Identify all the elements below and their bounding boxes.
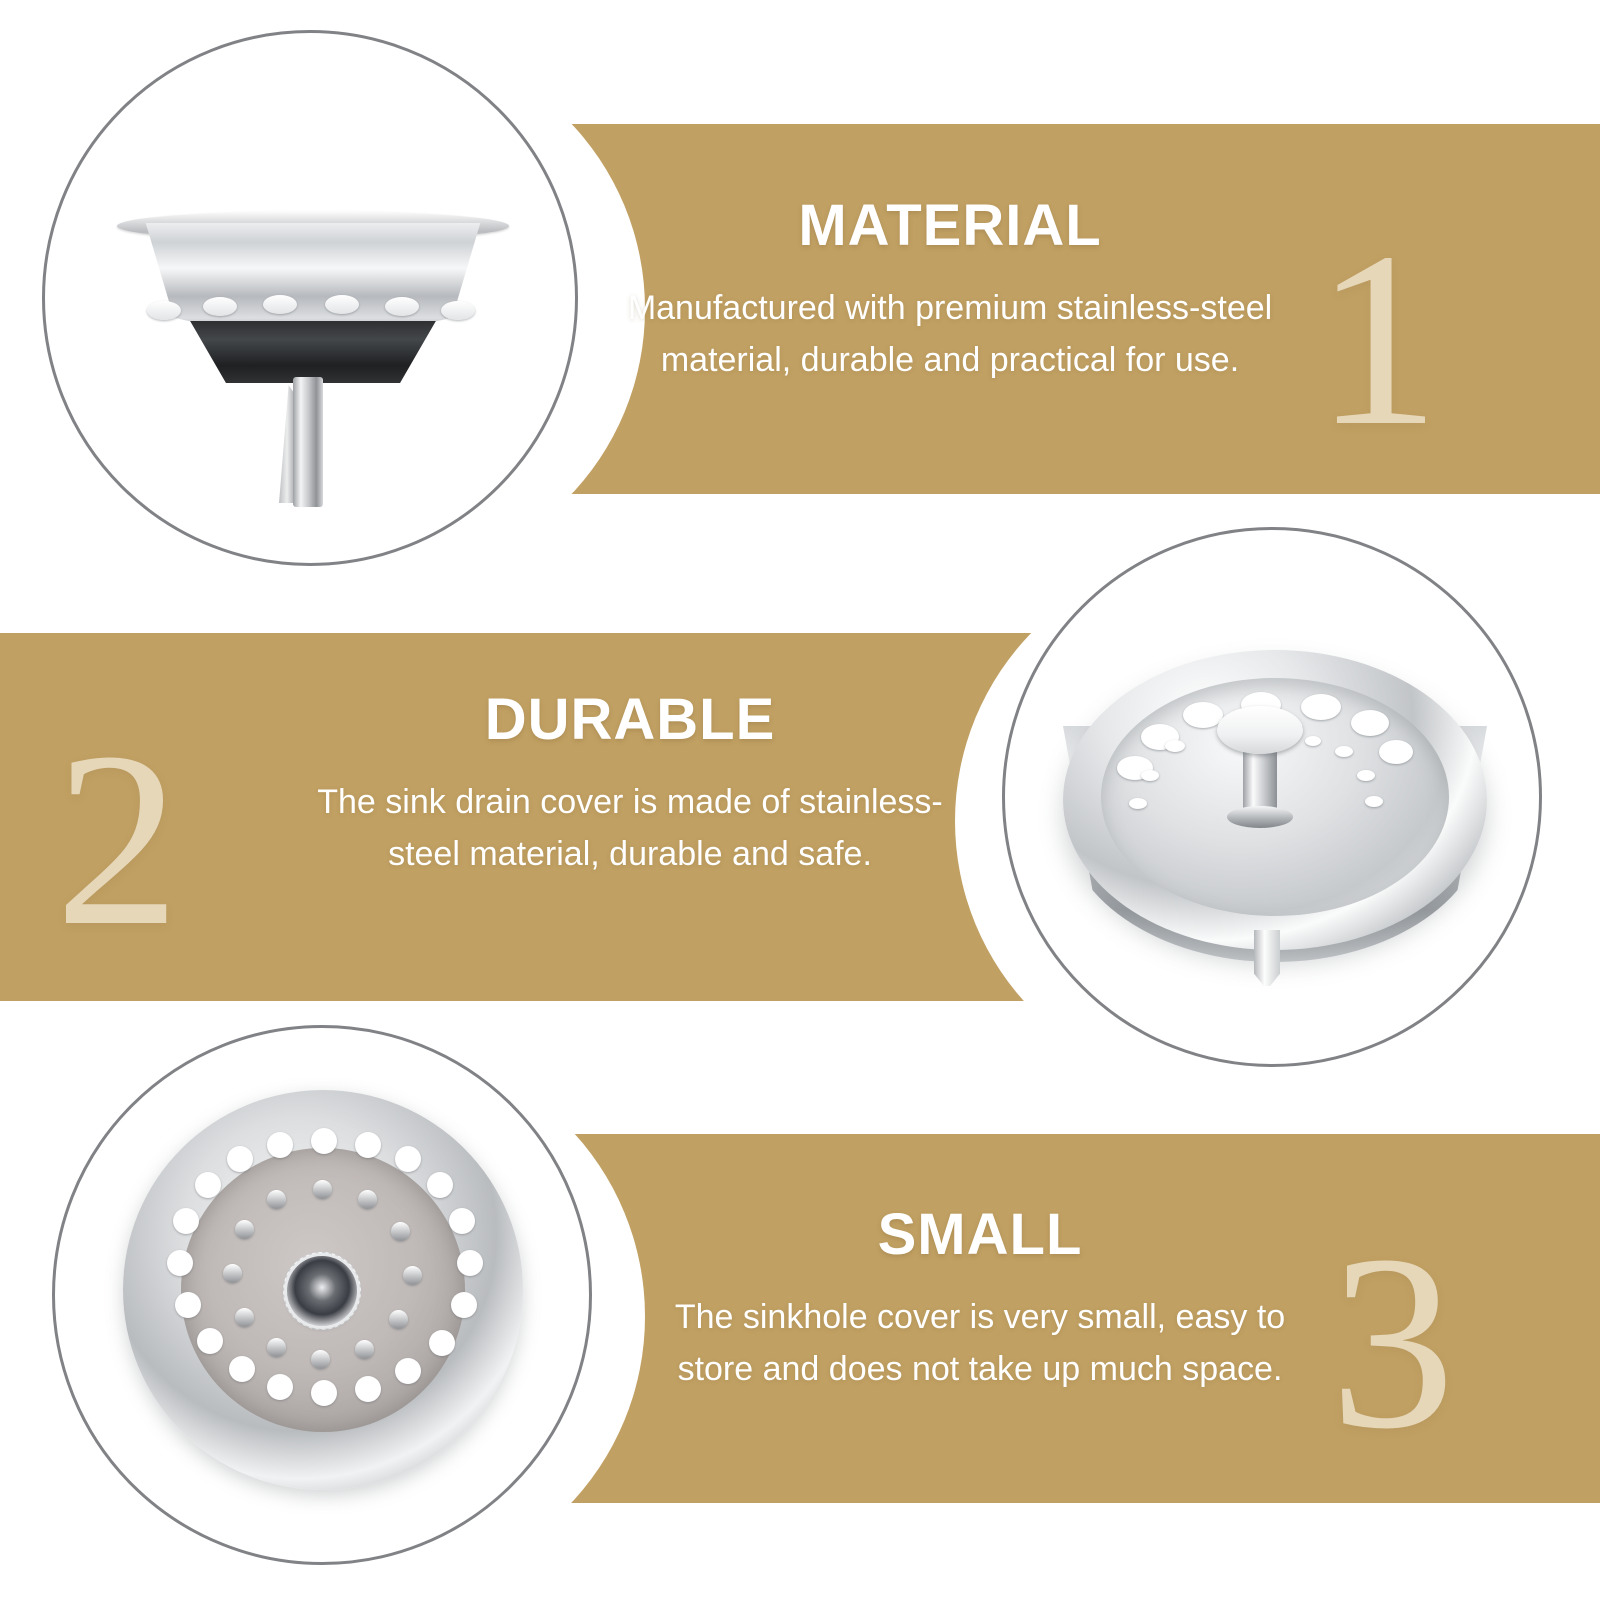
feature-number-2: 2 [55, 715, 180, 965]
product-photo-1 [42, 30, 578, 566]
strainer-post [293, 377, 323, 507]
feature-text-1: MATERIAL Manufactured with premium stain… [620, 196, 1280, 386]
product-photo-3 [52, 1025, 592, 1565]
basket-center-knob [287, 1256, 357, 1326]
feature-number-3: 3 [1330, 1218, 1455, 1468]
rubber-seal [185, 321, 441, 383]
feature-number-1: 1 [1315, 215, 1440, 465]
strainer-top-view-illustration [55, 1028, 589, 1562]
feature-heading-2: DURABLE [300, 690, 960, 751]
infographic-page: 1 MATERIAL Manufactured with premium sta… [0, 0, 1600, 1600]
feature-body-3: The sinkhole cover is very small, easy t… [650, 1292, 1310, 1395]
knob-collar [1227, 806, 1293, 828]
feature-heading-3: SMALL [650, 1205, 1310, 1266]
strainer-angled-view-illustration [1005, 530, 1539, 1064]
feature-text-2: DURABLE The sink drain cover is made of … [300, 690, 960, 880]
feature-text-3: SMALL The sinkhole cover is very small, … [650, 1205, 1310, 1395]
basket-knob [1217, 706, 1303, 754]
feature-heading-1: MATERIAL [620, 196, 1280, 257]
feature-body-1: Manufactured with premium stainless-stee… [620, 283, 1280, 386]
strainer-tail-post [1254, 930, 1280, 986]
feature-body-2: The sink drain cover is made of stainles… [300, 777, 960, 880]
product-photo-2 [1002, 527, 1542, 1067]
strainer-side-view-illustration [45, 33, 575, 563]
